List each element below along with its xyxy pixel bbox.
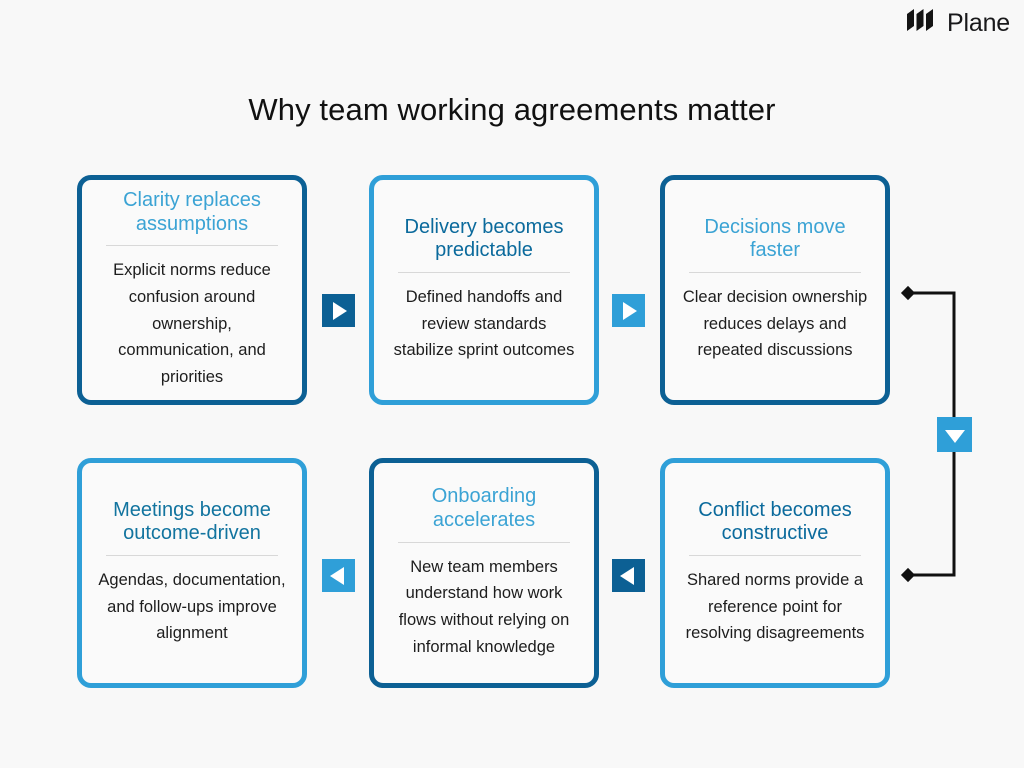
card-title: Clarity replaces assumptions: [106, 189, 278, 246]
card-title: Conflict becomes constructive: [689, 499, 861, 556]
card-decisions-move-faster[interactable]: Decisions move faster Clear decision own…: [660, 175, 890, 405]
triangle-left-icon: [620, 567, 634, 585]
card-title: Onboarding accelerates: [398, 485, 570, 542]
arrow-down-icon-loop: [937, 417, 972, 452]
triangle-left-icon: [330, 567, 344, 585]
arrow-right-icon-card2-to-card3: [612, 294, 645, 327]
card-body: Defined handoffs and review standards st…: [390, 284, 578, 364]
triangle-right-icon: [333, 302, 347, 320]
page-title: Why team working agreements matter: [0, 92, 1024, 128]
arrow-right-icon-card1-to-card2: [322, 294, 355, 327]
card-title: Meetings become outcome-driven: [106, 499, 278, 556]
card-meetings-become-outcome-driven[interactable]: Meetings become outcome-driven Agendas, …: [77, 458, 307, 688]
card-clarity-replaces-assumptions[interactable]: Clarity replaces assumptions Explicit no…: [77, 175, 307, 405]
card-title: Decisions move faster: [689, 216, 861, 273]
brand-logo: Plane: [907, 9, 1010, 38]
arrow-left-icon-card6-to-card5: [612, 559, 645, 592]
card-body: Explicit norms reduce confusion around o…: [98, 257, 286, 391]
plane-logo-icon: [907, 9, 939, 38]
card-body: Shared norms provide a reference point f…: [681, 567, 869, 647]
brand-name: Plane: [947, 11, 1010, 36]
card-body: Agendas, documentation, and follow-ups i…: [98, 567, 286, 647]
card-delivery-becomes-predictable[interactable]: Delivery becomes predictable Defined han…: [369, 175, 599, 405]
arrow-left-icon-card5-to-card4: [322, 559, 355, 592]
triangle-down-icon: [945, 430, 965, 443]
card-conflict-becomes-constructive[interactable]: Conflict becomes constructive Shared nor…: [660, 458, 890, 688]
card-body: New team members understand how work flo…: [390, 554, 578, 661]
card-title: Delivery becomes predictable: [398, 216, 570, 273]
card-body: Clear decision ownership reduces delays …: [681, 284, 869, 364]
card-onboarding-accelerates[interactable]: Onboarding accelerates New team members …: [369, 458, 599, 688]
triangle-right-icon: [623, 302, 637, 320]
